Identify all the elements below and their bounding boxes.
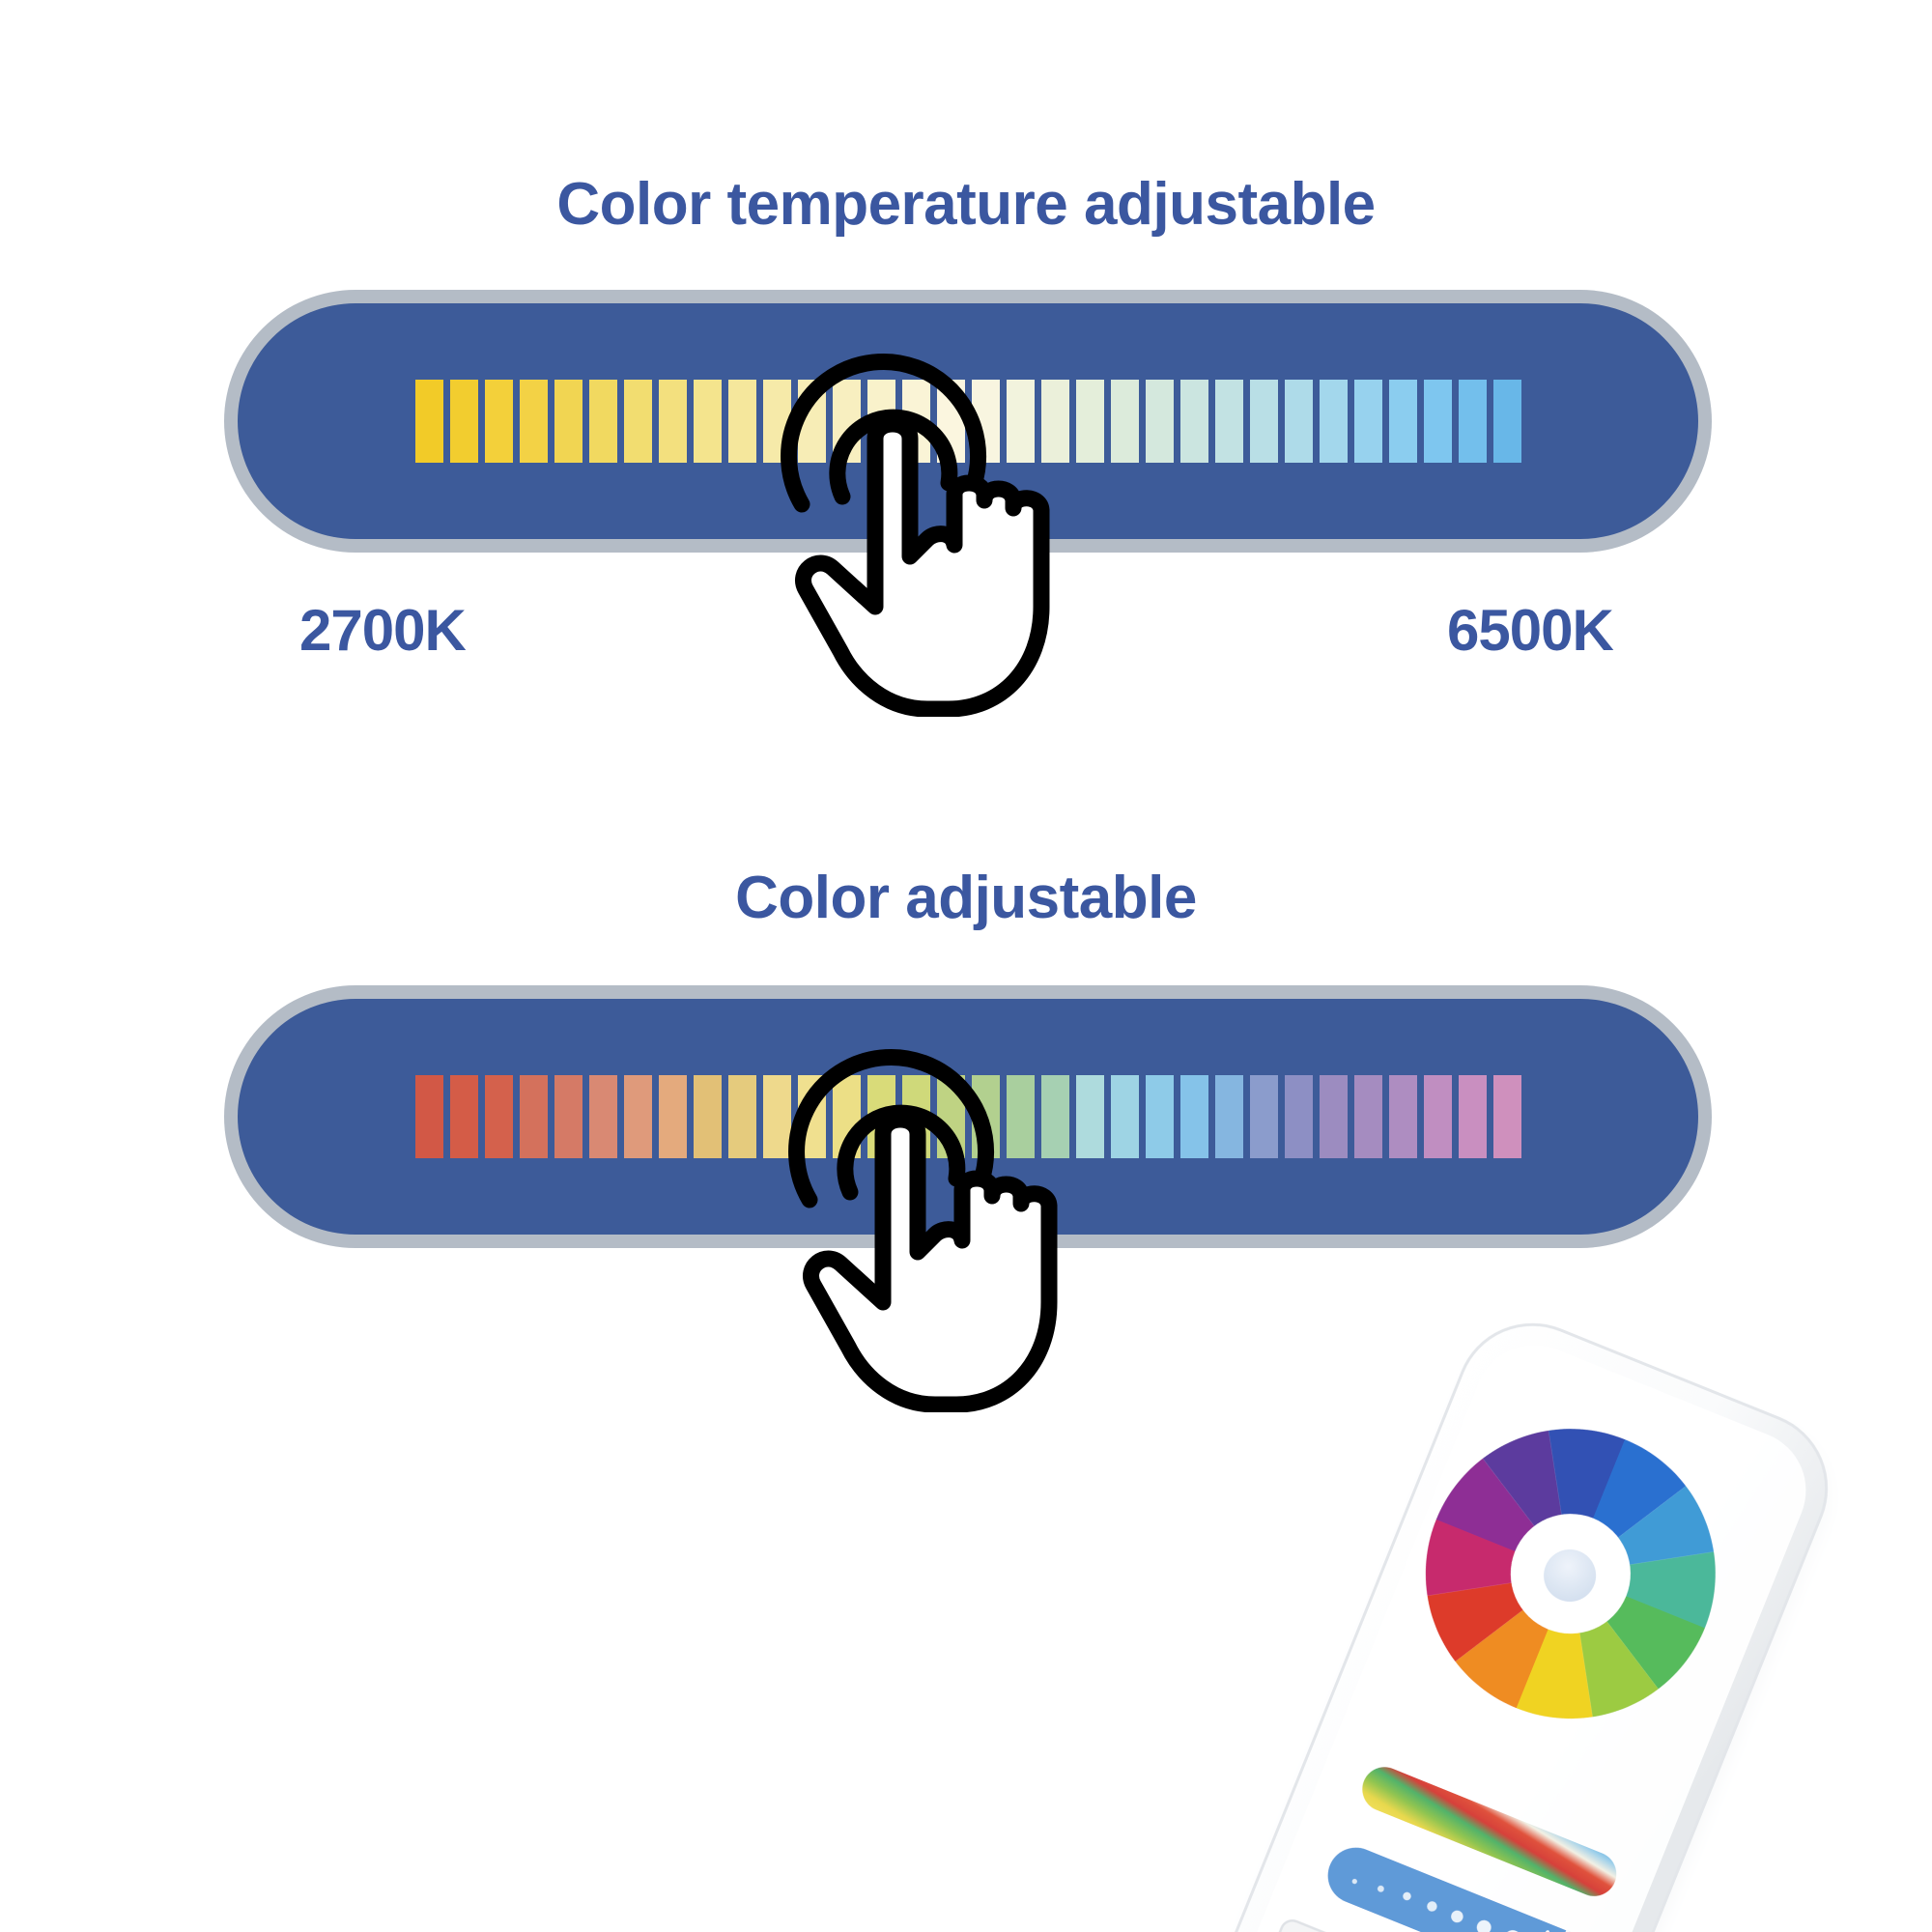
color-segment[interactable] bbox=[1459, 1075, 1487, 1158]
color-temperature-segment[interactable] bbox=[902, 380, 930, 463]
color-temperature-title: Color temperature adjustable bbox=[0, 170, 1932, 239]
color-segment[interactable] bbox=[485, 1075, 513, 1158]
color-temperature-segment[interactable] bbox=[1424, 380, 1452, 463]
color-segment[interactable] bbox=[867, 1075, 895, 1158]
color-wheel[interactable] bbox=[1370, 1373, 1773, 1776]
color-temperature-segment[interactable] bbox=[1285, 380, 1313, 463]
color-segment[interactable] bbox=[1180, 1075, 1208, 1158]
color-temperature-segment[interactable] bbox=[728, 380, 756, 463]
color-temperature-segment[interactable] bbox=[1146, 380, 1174, 463]
color-temperature-segment[interactable] bbox=[972, 380, 1000, 463]
color-segment[interactable] bbox=[972, 1075, 1000, 1158]
color-segment[interactable] bbox=[1320, 1075, 1348, 1158]
color-temperature-segment[interactable] bbox=[1320, 380, 1348, 463]
color-temperature-segment[interactable] bbox=[1111, 380, 1139, 463]
color-adjustable-title: Color adjustable bbox=[0, 864, 1932, 932]
color-segment-track bbox=[415, 1075, 1521, 1158]
color-temperature-segment[interactable] bbox=[624, 380, 652, 463]
color-segment[interactable] bbox=[728, 1075, 756, 1158]
color-segment[interactable] bbox=[694, 1075, 722, 1158]
color-temperature-segment[interactable] bbox=[450, 380, 478, 463]
color-temperature-segment[interactable] bbox=[1007, 380, 1035, 463]
color-temperature-segment[interactable] bbox=[694, 380, 722, 463]
color-segment[interactable] bbox=[833, 1075, 861, 1158]
color-temperature-segment[interactable] bbox=[520, 380, 548, 463]
color-segment[interactable] bbox=[554, 1075, 582, 1158]
sun-icon bbox=[1523, 1922, 1591, 1932]
color-temperature-segment[interactable] bbox=[937, 380, 965, 463]
color-segment[interactable] bbox=[1215, 1075, 1243, 1158]
color-segment[interactable] bbox=[589, 1075, 617, 1158]
color-segment[interactable] bbox=[1354, 1075, 1382, 1158]
color-segment[interactable] bbox=[1041, 1075, 1069, 1158]
color-segment[interactable] bbox=[1007, 1075, 1035, 1158]
color-temperature-slider[interactable] bbox=[224, 290, 1712, 553]
color-segment[interactable] bbox=[450, 1075, 478, 1158]
on-button[interactable] bbox=[1253, 1918, 1422, 1932]
color-temperature-segment[interactable] bbox=[659, 380, 687, 463]
feature-graphic: Color temperature adjustable 2700K 6500K… bbox=[0, 0, 1932, 1932]
color-slider-body bbox=[238, 999, 1698, 1235]
color-temperature-segment[interactable] bbox=[1076, 380, 1104, 463]
color-temperature-segment[interactable] bbox=[867, 380, 895, 463]
color-temperature-segment[interactable] bbox=[1041, 380, 1069, 463]
color-segment[interactable] bbox=[659, 1075, 687, 1158]
color-temperature-segment[interactable] bbox=[1180, 380, 1208, 463]
color-temperature-segment[interactable] bbox=[589, 380, 617, 463]
color-segment[interactable] bbox=[1111, 1075, 1139, 1158]
brightness-slider[interactable] bbox=[1320, 1839, 1609, 1932]
color-temperature-segment[interactable] bbox=[833, 380, 861, 463]
color-segment[interactable] bbox=[1146, 1075, 1174, 1158]
color-temperature-segment[interactable] bbox=[1250, 380, 1278, 463]
color-temperature-segment[interactable] bbox=[1389, 380, 1417, 463]
max-kelvin-label: 6500K bbox=[1447, 597, 1613, 664]
color-slider[interactable] bbox=[224, 985, 1712, 1248]
color-segment[interactable] bbox=[415, 1075, 443, 1158]
color-segment[interactable] bbox=[902, 1075, 930, 1158]
color-segment[interactable] bbox=[1076, 1075, 1104, 1158]
color-temperature-segment[interactable] bbox=[798, 380, 826, 463]
color-segment[interactable] bbox=[1424, 1075, 1452, 1158]
rgb-led-remote-control: OFF bbox=[1217, 1321, 1932, 1932]
color-temperature-slider-body bbox=[238, 303, 1698, 539]
color-temperature-segment[interactable] bbox=[415, 380, 443, 463]
color-temperature-segment[interactable] bbox=[763, 380, 791, 463]
color-temperature-segment[interactable] bbox=[1493, 380, 1521, 463]
color-temperature-segment[interactable] bbox=[485, 380, 513, 463]
remote-face bbox=[1219, 1327, 1824, 1932]
color-segment[interactable] bbox=[763, 1075, 791, 1158]
color-temperature-segment[interactable] bbox=[1215, 380, 1243, 463]
color-temperature-segment[interactable] bbox=[1354, 380, 1382, 463]
rainbow-strip-slider[interactable] bbox=[1355, 1760, 1623, 1903]
color-temperature-segment[interactable] bbox=[1459, 380, 1487, 463]
color-segment[interactable] bbox=[520, 1075, 548, 1158]
color-segment[interactable] bbox=[1285, 1075, 1313, 1158]
color-segment[interactable] bbox=[1389, 1075, 1417, 1158]
color-segment[interactable] bbox=[937, 1075, 965, 1158]
color-wheel-center-dot[interactable] bbox=[1536, 1542, 1604, 1609]
color-temperature-segment-track bbox=[415, 380, 1521, 463]
remote-body bbox=[1217, 1321, 1849, 1932]
color-segment[interactable] bbox=[1250, 1075, 1278, 1158]
color-temperature-segment[interactable] bbox=[554, 380, 582, 463]
color-segment[interactable] bbox=[1493, 1075, 1521, 1158]
color-wheel-inner bbox=[1492, 1495, 1648, 1651]
min-kelvin-label: 2700K bbox=[299, 597, 466, 664]
color-segment[interactable] bbox=[624, 1075, 652, 1158]
color-segment[interactable] bbox=[798, 1075, 826, 1158]
